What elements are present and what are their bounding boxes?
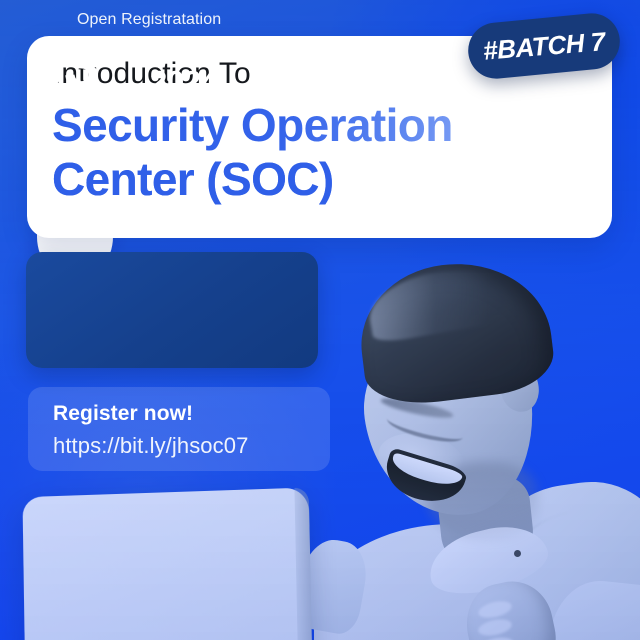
register-now-label: Register now! <box>53 402 193 426</box>
page-title: Security Operation Center (SOC) <box>52 98 572 207</box>
collar-button <box>514 550 521 557</box>
laptop <box>22 487 312 640</box>
event-month-year: Februari 2024 <box>150 34 272 98</box>
event-day: 03 <box>28 32 99 98</box>
event-month: Februari <box>150 34 272 66</box>
event-year: 2024 <box>150 66 272 98</box>
batch-badge-label: #BATCH 7 <box>482 26 606 66</box>
registration-link[interactable]: https://bit.ly/jhsoc07 <box>53 433 248 459</box>
promotional-poster: Introduction To Security Operation Cente… <box>0 0 640 640</box>
laptop-edge <box>294 487 312 640</box>
open-registration-label: Open Registratation <box>77 11 221 29</box>
person-photo <box>332 262 640 640</box>
date-card <box>26 252 318 368</box>
title-line-1: Security Operation <box>52 99 453 151</box>
title-line-2: Center (SOC) <box>52 152 572 206</box>
